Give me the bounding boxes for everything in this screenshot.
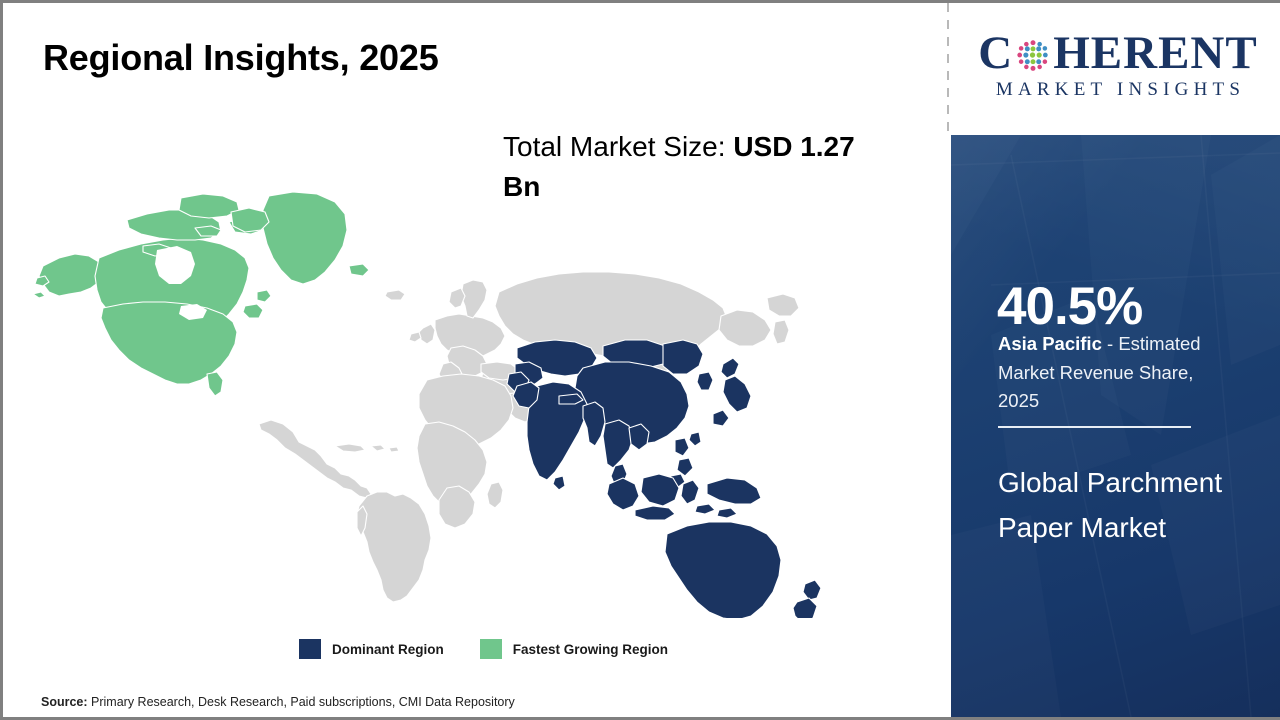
legend-item-fastest-growing[interactable]: Fastest Growing Region	[480, 639, 668, 659]
logo-wordmark: C	[968, 25, 1268, 81]
stat-region-name: Asia Pacific	[998, 333, 1102, 354]
stat-panel: 40.5% Asia Pacific - Estimated Market Re…	[951, 135, 1280, 717]
market-name: Global Parchment Paper Market	[998, 460, 1248, 551]
legend-label-fastest-growing: Fastest Growing Region	[513, 642, 668, 657]
logo-word-rest: HERENT	[1053, 30, 1258, 77]
globe-dots-icon	[1014, 37, 1052, 75]
company-logo[interactable]: C	[968, 25, 1268, 113]
legend-item-dominant[interactable]: Dominant Region	[299, 639, 444, 659]
logo-initial: C	[978, 30, 1013, 77]
legend-swatch-navy	[299, 639, 321, 659]
vertical-dashed-divider	[947, 3, 949, 137]
infographic-slide: Regional Insights, 2025 Total Market Siz…	[0, 0, 1280, 720]
panel-divider-rule	[998, 426, 1191, 428]
market-size-label: Total Market Size:	[503, 131, 733, 162]
region-north-america-green[interactable]	[33, 192, 369, 396]
legend-label-dominant: Dominant Region	[332, 642, 444, 657]
source-footnote: Source: Primary Research, Desk Research,…	[41, 695, 515, 709]
stat-percentage: 40.5%	[997, 280, 1142, 333]
legend-swatch-green	[480, 639, 502, 659]
region-asia-pacific-navy[interactable]	[507, 340, 821, 618]
map-legend: Dominant Region Fastest Growing Region	[299, 639, 668, 659]
page-title: Regional Insights, 2025	[43, 37, 439, 79]
world-map-svg	[31, 188, 861, 618]
source-label: Source:	[41, 695, 88, 709]
logo-tagline: MARKET INSIGHTS	[968, 79, 1268, 101]
source-text: Primary Research, Desk Research, Paid su…	[88, 695, 515, 709]
world-map	[31, 188, 861, 618]
stat-description: Asia Pacific - Estimated Market Revenue …	[998, 330, 1238, 416]
